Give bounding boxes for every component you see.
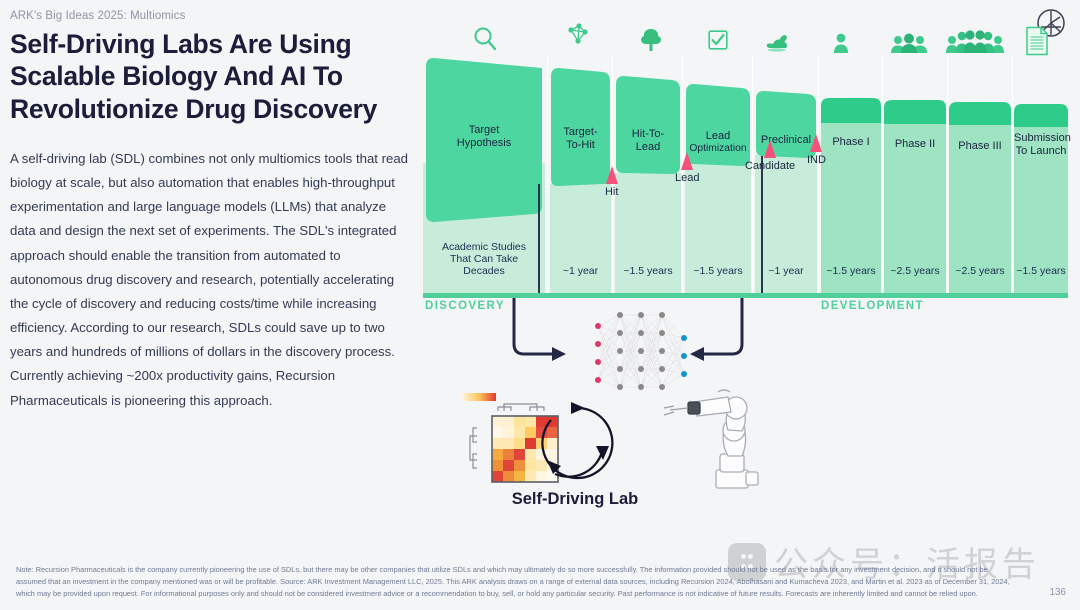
stage-duration: ~1 year [550,265,611,277]
milestone-hit: Hit [605,166,618,198]
eyebrow-breadcrumb: ARK's Big Ideas 2025: Multiomics [10,10,415,22]
self-driving-lab-diagram: Self-Driving Lab [423,300,1068,530]
milestone-candidate: Candidate [745,140,795,172]
stage-duration: ~1.5 years [821,265,881,277]
funnel-stage-preclinical[interactable]: Preclinical ~1 year [755,56,817,293]
stage-label-line2: Hypothesis [423,137,545,150]
funnel-stage-phase-ii[interactable]: Phase II ~2.5 years [884,56,946,293]
stage-duration: ~2.5 years [884,265,946,277]
mouse-icon [765,32,791,54]
molecule-network-icon [565,22,591,48]
milestone-lead: Lead [675,152,699,184]
funnel-stage-target-hypothesis[interactable]: Target Hypothesis Academic Studies That … [423,56,545,293]
document-icon [1025,26,1049,56]
page-number: 136 [1049,587,1066,598]
stage-duration: ~1.5 years [1014,265,1068,277]
funnel-stage-phase-i[interactable]: Phase I ~1.5 years [821,56,881,293]
stage-label-line1: Target [423,124,545,137]
funnel-stage-target-to-hit[interactable]: Target- To-Hit ~1 year [550,56,611,293]
tree-icon [638,28,664,52]
page-title: Self-Driving Labs Are Using Scalable Bio… [10,28,415,125]
funnel-stage-submission-to-launch[interactable]: Submission To Launch ~1.5 years [1014,56,1068,293]
body-paragraph: A self-driving lab (SDL) combines not on… [10,147,415,413]
checkbox-icon [708,30,728,50]
stage-duration: Academic Studies That Can Take Decades [423,241,545,277]
magnifying-glass-icon [473,26,497,52]
funnel-stage-columns: Target Hypothesis Academic Studies That … [423,56,1068,293]
self-driving-lab-title: Self-Driving Lab [512,490,639,509]
robot-arm-icon [658,388,768,498]
development-boundary-line [761,156,763,293]
stage-duration: ~1.5 years [685,265,751,277]
stage-duration: ~1 year [755,265,817,277]
drug-discovery-funnel-chart: Target Hypothesis Academic Studies That … [423,10,1068,310]
funnel-stage-phase-iii[interactable]: Phase III ~2.5 years [949,56,1011,293]
milestone-ind: IND [807,134,826,166]
article-left-column: ARK's Big Ideas 2025: Multiomics Self-Dr… [10,10,415,413]
stage-icon-row [423,10,1068,56]
arrow-down-right-icon [508,298,578,373]
stage-duration: ~1.5 years [615,265,681,277]
discovery-boundary-line [538,184,540,293]
single-person-icon [833,32,849,54]
funnel-stage-hit-to-lead[interactable]: Hit-To- Lead ~1.5 years [615,56,681,293]
large-group-icon [946,30,1004,54]
stage-duration: ~2.5 years [949,265,1011,277]
small-group-icon [890,32,928,54]
circular-arrow-cycle-icon [531,400,623,491]
footnote: Note: Recursion Pharmaceuticals is the c… [16,564,1016,600]
